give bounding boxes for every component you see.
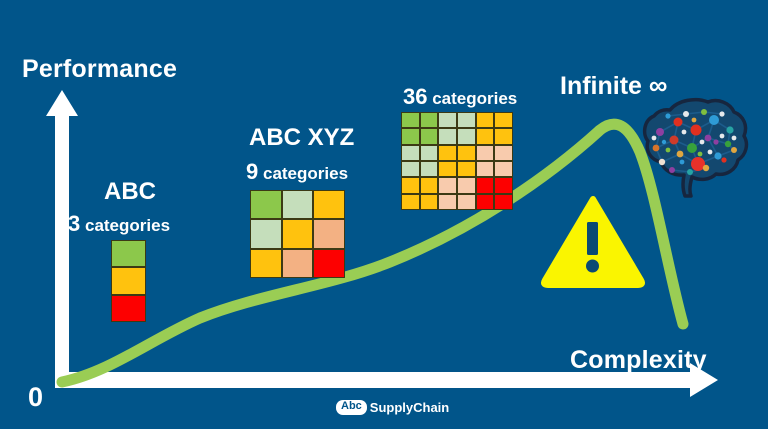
matrix-cell [401, 177, 420, 193]
matrix-cell [282, 190, 314, 219]
abc-xyz-subtitle: 9 categories [246, 161, 348, 183]
c36-subtitle: 36 categories [403, 86, 517, 108]
matrix-cell [401, 112, 420, 128]
matrix-cell [457, 194, 476, 210]
matrix-cell [438, 194, 457, 210]
infinite-label: Infinite [560, 72, 642, 100]
matrix-cell [438, 177, 457, 193]
matrix-cell [476, 145, 495, 161]
c36-count: 36 [403, 84, 427, 109]
matrix-cell [111, 240, 146, 267]
abc-count: 3 [68, 211, 80, 236]
abc-xyz-count: 9 [246, 159, 258, 184]
matrix-cell [313, 249, 345, 278]
brand-logo: Abc SupplyChain [336, 400, 449, 415]
warning-triangle-icon [541, 196, 645, 288]
matrix-cell [111, 295, 146, 322]
logo-badge: Abc [336, 400, 367, 415]
c36-count-word: categories [432, 89, 517, 108]
matrix-cell [420, 112, 439, 128]
matrix-cell [420, 128, 439, 144]
matrix-cell [313, 219, 345, 248]
matrix-cell [457, 112, 476, 128]
matrix-cell [111, 267, 146, 294]
matrix-cell [401, 161, 420, 177]
matrix-cell [250, 249, 282, 278]
matrix-cell [494, 161, 513, 177]
matrix-cell [420, 194, 439, 210]
brain-network-icon [634, 92, 752, 198]
matrix-cell [420, 145, 439, 161]
matrix-cell [457, 145, 476, 161]
matrix-cell [401, 128, 420, 144]
matrix-cell [476, 177, 495, 193]
matrix-cell [438, 112, 457, 128]
abc-xyz-title: ABC XYZ [249, 126, 354, 150]
matrix-cell [457, 128, 476, 144]
matrix-cell [476, 194, 495, 210]
matrix-cell [494, 112, 513, 128]
abc-subtitle: 3 categories [68, 213, 170, 235]
matrix-cell [438, 161, 457, 177]
matrix-cell [494, 194, 513, 210]
matrix-cell [401, 194, 420, 210]
logo-word: SupplyChain [370, 401, 449, 414]
matrix-cell [438, 145, 457, 161]
matrix-cell [313, 190, 345, 219]
matrix-cell [476, 112, 495, 128]
matrix-cell [494, 177, 513, 193]
matrix-cell [420, 161, 439, 177]
abc-xyz-count-word: categories [263, 164, 348, 183]
matrix-cell [282, 249, 314, 278]
abc-xyz-matrix [250, 190, 345, 278]
matrix-cell [476, 161, 495, 177]
matrix-cell [476, 128, 495, 144]
abc-count-word: categories [85, 216, 170, 235]
matrix-cell [494, 128, 513, 144]
matrix-cell [494, 145, 513, 161]
matrix-cell [250, 190, 282, 219]
matrix-cell [457, 177, 476, 193]
abc-matrix [111, 240, 146, 322]
matrix-cell [420, 177, 439, 193]
matrix-cell [438, 128, 457, 144]
matrix-cell [282, 219, 314, 248]
abc-title: ABC [104, 180, 156, 204]
c36-matrix [401, 112, 513, 210]
matrix-cell [401, 145, 420, 161]
matrix-cell [250, 219, 282, 248]
matrix-cell [457, 161, 476, 177]
infographic-canvas: Performance Complexity 0 ABC 3 categorie… [0, 0, 768, 429]
